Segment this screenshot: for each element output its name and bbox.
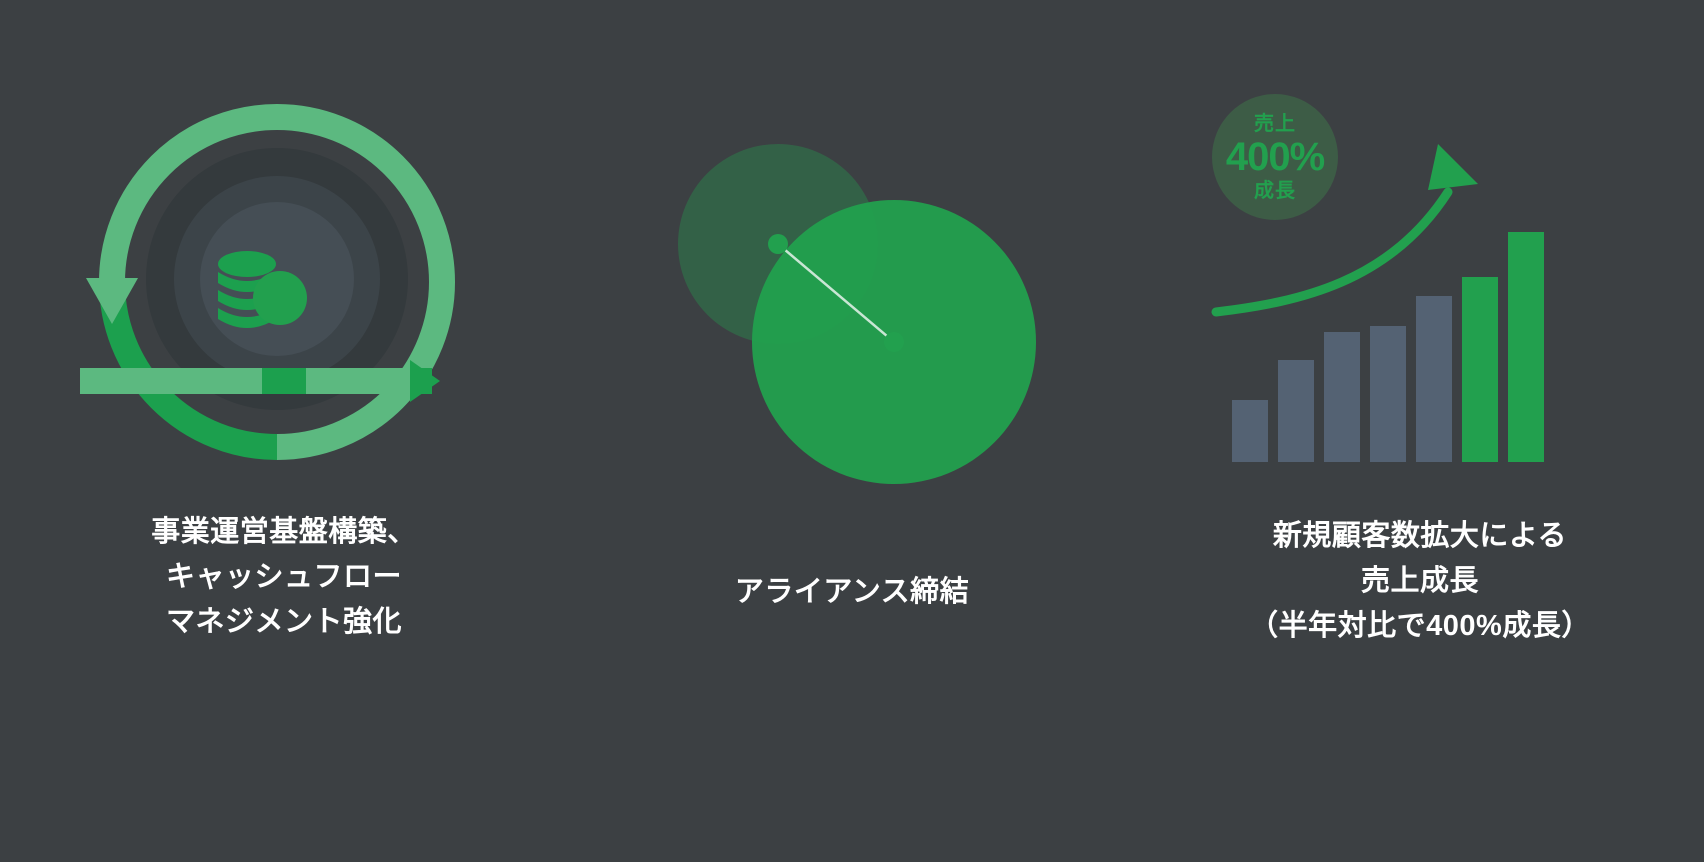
- coin-stack-icon: [218, 251, 307, 328]
- cycle-coins-icon: [74, 92, 494, 492]
- caption-growth: 新規顧客数拡大による 売上成長 （半年対比で400%成長）: [1185, 514, 1655, 649]
- bar-1: [1232, 400, 1268, 462]
- feature-column-operations: 事業運営基盤構築、 キャッシュフロー マネジメント強化: [0, 0, 568, 862]
- bar-5: [1416, 296, 1452, 462]
- caption-line: （半年対比で400%成長）: [1185, 604, 1655, 649]
- base-arrow-overlap: [262, 368, 306, 394]
- node-dot-large: [884, 332, 904, 352]
- caption-operations: 事業運営基盤構築、 キャッシュフロー マネジメント強化: [49, 510, 519, 645]
- growth-curve-arrowhead: [1428, 144, 1478, 190]
- bar-3: [1324, 332, 1360, 462]
- bar-6: [1462, 277, 1498, 462]
- coin-round: [253, 271, 307, 325]
- bar-2: [1278, 360, 1314, 462]
- cycle-icon-group: [74, 92, 494, 492]
- feature-columns: 事業運営基盤構築、 キャッシュフロー マネジメント強化 アライアンス締結: [0, 0, 1704, 862]
- caption-line: 売上成長: [1185, 559, 1655, 604]
- node-dot-small: [768, 234, 788, 254]
- caption-alliance: アライアンス締結: [617, 570, 1087, 615]
- caption-line: マネジメント強化: [49, 600, 519, 645]
- coin-top: [218, 251, 276, 277]
- feature-column-growth: 売上 400% 成長: [1136, 0, 1704, 862]
- growth-bar-chart-icon: 売上 400% 成長: [1210, 92, 1630, 492]
- growth-curve: [1216, 192, 1448, 312]
- network-circles-icon: [642, 92, 1062, 492]
- bar-7: [1508, 232, 1544, 462]
- bar-chart-svg: [1210, 92, 1630, 492]
- caption-line: アライアンス締結: [617, 570, 1087, 615]
- caption-line: 事業運営基盤構築、: [49, 510, 519, 555]
- base-arrow-shaft-light-2: [304, 368, 418, 394]
- network-svg: [642, 92, 1062, 492]
- caption-line: キャッシュフロー: [49, 555, 519, 600]
- feature-column-alliance: アライアンス締結: [568, 0, 1136, 862]
- bar-4: [1370, 326, 1406, 462]
- cycle-arrow-svg: [74, 92, 494, 492]
- slide-canvas: 事業運営基盤構築、 キャッシュフロー マネジメント強化 アライアンス締結: [0, 0, 1704, 862]
- cycle-arrowhead: [86, 278, 138, 324]
- caption-line: 新規顧客数拡大による: [1185, 514, 1655, 559]
